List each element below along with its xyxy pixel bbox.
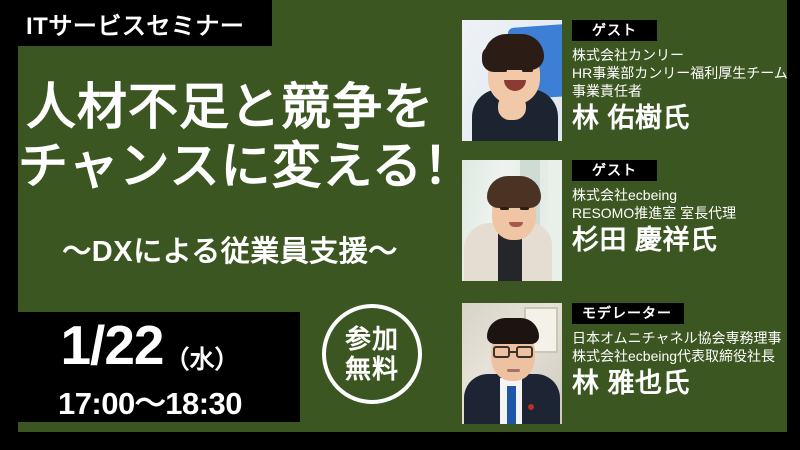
- free-badge-line-2: 無料: [345, 354, 399, 384]
- speaker-affiliation-2-line-1: 株式会社ecbeing: [572, 186, 792, 204]
- speaker-photo-hayashi-yuki: [462, 20, 562, 141]
- speaker-info-1: ゲスト 株式会社カンリー HR事業部カンリー福利厚生チーム 事業責任者 林 佑樹…: [572, 20, 792, 134]
- free-badge-line-1: 参加: [345, 324, 399, 354]
- speaker-affiliation-2-line-2: RESOMO推進室 室長代理: [572, 204, 792, 222]
- headline-line-1: 人材不足と競争を: [18, 78, 442, 137]
- title-banner: ITサービスセミナー: [0, 0, 272, 46]
- speaker-role-tag-1: ゲスト: [572, 20, 657, 41]
- speaker-photo-sugita-yoshiyuki: [462, 160, 562, 281]
- speaker-info-3: モデレーター 日本オムニチャネル協会専務理事 株式会社ecbeing代表取締役社…: [572, 303, 792, 399]
- headline: 人材不足と競争を チャンスに変える！: [18, 78, 442, 196]
- speaker-affiliation-1-line-3: 事業責任者: [572, 82, 792, 100]
- speaker-affiliation-3: 日本オムニチャネル協会専務理事 株式会社ecbeing代表取締役社長: [572, 329, 792, 365]
- free-participation-badge: 参加 無料: [322, 304, 422, 404]
- speaker-name-1: 林 佑樹氏: [572, 102, 792, 134]
- speaker-name-3: 林 雅也氏: [572, 367, 792, 399]
- headline-subtitle: 〜DXによる従業員支援〜: [18, 228, 442, 270]
- title-banner-label: ITサービスセミナー: [26, 6, 244, 41]
- speaker-affiliation-2: 株式会社ecbeing RESOMO推進室 室長代理: [572, 186, 792, 222]
- seminar-poster: ITサービスセミナー 人材不足と競争を チャンスに変える！ 〜DXによる従業員支…: [0, 0, 800, 450]
- speaker-info-2: ゲスト 株式会社ecbeing RESOMO推進室 室長代理 杉田 慶祥氏: [572, 160, 792, 256]
- event-date: 1/22: [60, 318, 163, 373]
- speaker-photo-hayashi-masaya: [462, 303, 562, 424]
- speaker-affiliation-1: 株式会社カンリー HR事業部カンリー福利厚生チーム 事業責任者: [572, 46, 792, 100]
- event-day-of-week: （水）: [165, 348, 240, 373]
- event-time: 17:00〜18:30: [0, 378, 300, 423]
- event-date-row: 1/22 （水）: [0, 312, 300, 378]
- speaker-affiliation-3-line-1: 日本オムニチャネル協会専務理事: [572, 329, 792, 347]
- speaker-affiliation-3-line-2: 株式会社ecbeing代表取締役社長: [572, 347, 792, 365]
- speaker-affiliation-1-line-1: 株式会社カンリー: [572, 46, 792, 64]
- speaker-card-1: ゲスト 株式会社カンリー HR事業部カンリー福利厚生チーム 事業責任者 林 佑樹…: [462, 20, 792, 150]
- speaker-role-tag-2: ゲスト: [572, 160, 657, 181]
- speaker-card-3: モデレーター 日本オムニチャネル協会専務理事 株式会社ecbeing代表取締役社…: [462, 303, 792, 433]
- speaker-card-2: ゲスト 株式会社ecbeing RESOMO推進室 室長代理 杉田 慶祥氏: [462, 160, 792, 290]
- speaker-name-2: 杉田 慶祥氏: [572, 224, 792, 256]
- speaker-affiliation-1-line-2: HR事業部カンリー福利厚生チーム: [572, 64, 792, 82]
- speaker-role-tag-3: モデレーター: [572, 303, 684, 324]
- headline-line-2: チャンスに変える！: [18, 137, 442, 196]
